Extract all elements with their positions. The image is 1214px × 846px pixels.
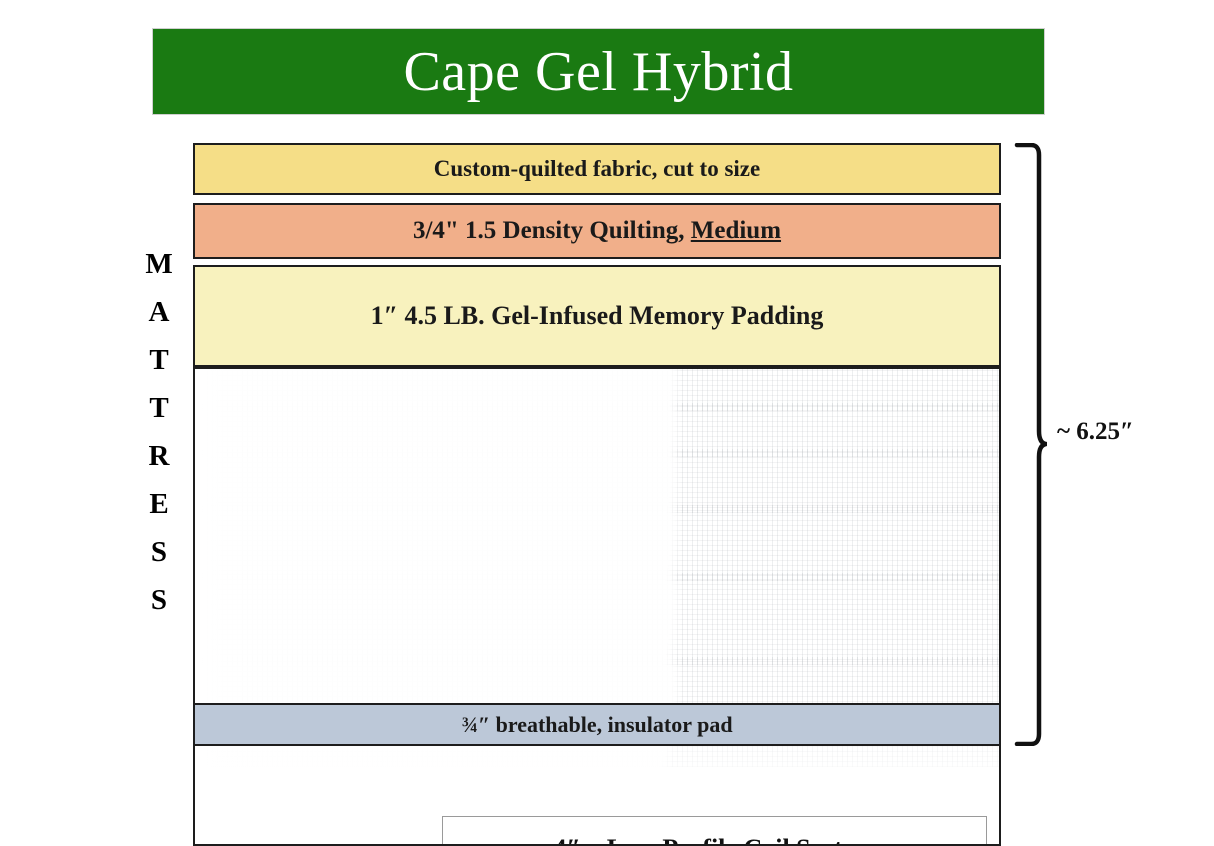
page-title-banner: Cape Gel Hybrid <box>152 28 1045 115</box>
mattress-letter: S <box>151 528 167 576</box>
layer-density-quilting: 3/4" 1.5 Density Quilting, Medium <box>193 203 1001 259</box>
mattress-letter: A <box>149 288 170 336</box>
coil-caption-title: 4″ – Low Profile Coil System <box>553 834 875 846</box>
layer-quilting-label: 3/4" 1.5 Density Quilting, Medium <box>413 217 781 245</box>
layer-fabric-label: Custom-quilted fabric, cut to size <box>434 156 760 182</box>
mattress-layer-stack: Custom-quilted fabric, cut to size 3/4" … <box>193 143 1001 746</box>
layer-insulator-pad: ¾″ breathable, insulator pad <box>193 703 1001 746</box>
layer-quilting-label-prefix: 3/4" 1.5 Density Quilting, <box>413 217 691 244</box>
layer-gel-infused-memory-padding: 1″ 4.5 LB. Gel-Infused Memory Padding <box>193 265 1001 367</box>
layer-insulator-label: ¾″ breathable, insulator pad <box>461 712 732 738</box>
layer-coil-system: 4″ – Low Profile Coil System 435 Twin, 6… <box>193 367 1001 846</box>
mattress-letter: E <box>149 480 168 528</box>
coil-caption-box: 4″ – Low Profile Coil System 435 Twin, 6… <box>442 816 987 846</box>
layer-quilting-firmness: Medium <box>691 217 781 244</box>
mattress-vertical-label: M A T T R E S S <box>132 240 186 624</box>
layer-memory-label: 1″ 4.5 LB. Gel-Infused Memory Padding <box>371 301 824 331</box>
layer-custom-quilted-fabric: Custom-quilted fabric, cut to size <box>193 143 1001 195</box>
mattress-letter: T <box>149 336 168 384</box>
measurement-brace-icon <box>1013 143 1047 746</box>
page-title: Cape Gel Hybrid <box>403 44 793 100</box>
measurement-label: ~ 6.25″ <box>1057 418 1134 446</box>
mattress-letter: T <box>149 384 168 432</box>
mattress-letter: M <box>145 240 172 288</box>
thickness-measurement: ~ 6.25″ <box>1013 143 1193 746</box>
mattress-letter: R <box>149 432 170 480</box>
mattress-letter: S <box>151 576 167 624</box>
